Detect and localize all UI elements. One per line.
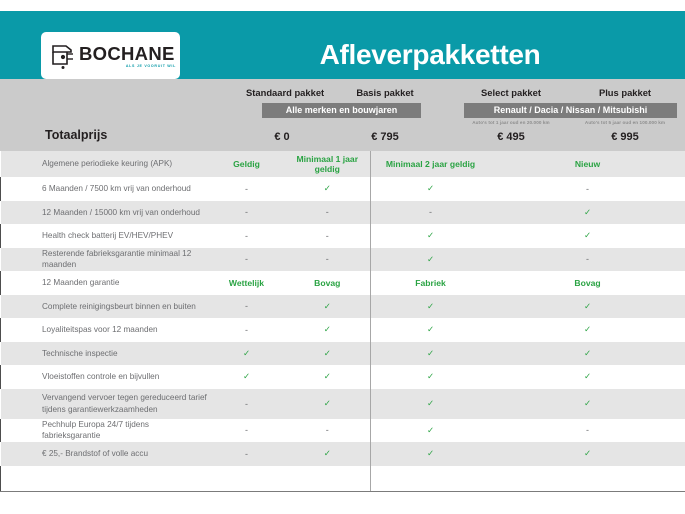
- cell-plus: ✓: [490, 342, 685, 366]
- price-select: € 495: [452, 131, 570, 143]
- cell-basis: ✓: [285, 442, 371, 466]
- cell-plus: -: [490, 248, 685, 272]
- table-row: 6 Maanden / 7500 km vrij van onderhoud-✓…: [1, 177, 685, 201]
- cell-basis: Bovag: [285, 271, 371, 295]
- table-row: Complete reinigingsbeurt binnen en buite…: [1, 295, 685, 319]
- group-banner-renault-dacia-nissan-mitsubishi: Renault / Dacia / Nissan / Mitsubishi: [464, 103, 677, 118]
- cell-standaard: -: [209, 201, 285, 225]
- cell-standaard: -: [209, 389, 285, 419]
- cell-standaard: -: [209, 224, 285, 248]
- cell-standaard: -: [209, 442, 285, 466]
- footer-spacer: [490, 466, 685, 492]
- table-row: Health check batterij EV/HEV/PHEV--✓✓: [1, 224, 685, 248]
- column-title-select: Select pakket: [452, 87, 570, 98]
- cell-standaard: -: [209, 419, 285, 443]
- row-label: 12 Maanden garantie: [1, 271, 209, 295]
- cell-plus: ✓: [490, 295, 685, 319]
- cell-plus: Nieuw: [490, 151, 685, 177]
- table-row: Vervangend vervoer tegen gereduceerd tar…: [1, 389, 685, 419]
- cell-standaard: Geldig: [209, 151, 285, 177]
- cell-basis: -: [285, 201, 371, 225]
- row-label: Complete reinigingsbeurt binnen en buite…: [1, 295, 209, 319]
- cell-basis: ✓: [285, 295, 371, 319]
- cell-standaard: -: [209, 318, 285, 342]
- cell-basis: Minimaal 1 jaar geldig: [285, 151, 371, 177]
- table-row: 12 Maanden / 15000 km vrij van onderhoud…: [1, 201, 685, 225]
- afleverpakketten-page: BOCHANE ALS JE VOORUIT WIL Afleverpakket…: [0, 0, 685, 514]
- price-basis: € 795: [342, 131, 428, 143]
- cell-select: ✓: [372, 442, 490, 466]
- bochane-logo: BOCHANE ALS JE VOORUIT WIL: [41, 32, 180, 79]
- table-row: Loyaliteitspas voor 12 maanden-✓✓✓: [1, 318, 685, 342]
- cell-select: ✓: [372, 389, 490, 419]
- package-comparison-table: Algemene periodieke keuring (APK)GeldigM…: [0, 151, 685, 492]
- table-row: Technische inspectie✓✓✓✓: [1, 342, 685, 366]
- cell-select: ✓: [372, 177, 490, 201]
- footer-spacer: [1, 466, 209, 492]
- cell-select: ✓: [372, 342, 490, 366]
- row-label: Loyaliteitspas voor 12 maanden: [1, 318, 209, 342]
- cell-plus: ✓: [490, 442, 685, 466]
- table-row: Resterende fabrieksgarantie minimaal 12 …: [1, 248, 685, 272]
- row-label: Algemene periodieke keuring (APK): [1, 151, 209, 177]
- price-plus: € 995: [570, 131, 680, 143]
- group-banner-alle-merken: Alle merken en bouwjaren: [262, 103, 421, 118]
- cell-select: ✓: [372, 365, 490, 389]
- cell-basis: ✓: [285, 318, 371, 342]
- column-title-basis: Basis pakket: [342, 87, 428, 98]
- cell-basis: -: [285, 224, 371, 248]
- column-title-standaard: Standaard pakket: [246, 87, 318, 98]
- row-label: Health check batterij EV/HEV/PHEV: [1, 224, 209, 248]
- price-standaard: € 0: [246, 131, 318, 143]
- cell-plus: ✓: [490, 201, 685, 225]
- row-label: Technische inspectie: [1, 342, 209, 366]
- table-row: Vloeistoffen controle en bijvullen✓✓✓✓: [1, 365, 685, 389]
- cell-basis: ✓: [285, 365, 371, 389]
- cell-basis: -: [285, 419, 371, 443]
- cell-basis: ✓: [285, 177, 371, 201]
- row-label: 12 Maanden / 15000 km vrij van onderhoud: [1, 201, 209, 225]
- cell-select: Minimaal 2 jaar geldig: [372, 151, 490, 177]
- cell-select: ✓: [372, 318, 490, 342]
- cell-standaard: -: [209, 177, 285, 201]
- cell-plus: Bovag: [490, 271, 685, 295]
- row-label: Pechhulp Europa 24/7 tijdens fabrieksgar…: [1, 419, 209, 443]
- column-note-plus: Auto's tot 5 jaar oud en 100.000 km: [570, 120, 680, 125]
- cell-standaard: -: [209, 295, 285, 319]
- table-row: Algemene periodieke keuring (APK)GeldigM…: [1, 151, 685, 177]
- table-row: € 25,- Brandstof of volle accu-✓✓✓: [1, 442, 685, 466]
- cell-plus: -: [490, 177, 685, 201]
- cell-plus: ✓: [490, 365, 685, 389]
- table-footer-row: [1, 466, 685, 492]
- cell-standaard: Wettelijk: [209, 271, 285, 295]
- column-title-plus: Plus pakket: [570, 87, 680, 98]
- cell-standaard: -: [209, 248, 285, 272]
- column-note-select: Auto's tot 1 jaar oud en 20.000 km: [452, 120, 570, 125]
- row-label: Resterende fabrieksgarantie minimaal 12 …: [1, 248, 209, 272]
- logo-wordmark: BOCHANE: [79, 43, 175, 65]
- cell-standaard: ✓: [209, 365, 285, 389]
- row-label: € 25,- Brandstof of volle accu: [1, 442, 209, 466]
- row-label: 6 Maanden / 7500 km vrij van onderhoud: [1, 177, 209, 201]
- cell-plus: ✓: [490, 389, 685, 419]
- table-row: Pechhulp Europa 24/7 tijdens fabrieksgar…: [1, 419, 685, 443]
- cell-select: ✓: [372, 248, 490, 272]
- row-label: Vloeistoffen controle en bijvullen: [1, 365, 209, 389]
- totalprice-row-label: Totaalprijs: [45, 128, 107, 142]
- logo-tagline: ALS JE VOORUIT WIL: [126, 64, 176, 68]
- cell-select: ✓: [372, 295, 490, 319]
- cell-select: ✓: [372, 419, 490, 443]
- cell-select: ✓: [372, 224, 490, 248]
- table-body: Algemene periodieke keuring (APK)GeldigM…: [1, 151, 685, 492]
- cell-standaard: ✓: [209, 342, 285, 366]
- cell-select: -: [372, 201, 490, 225]
- cell-plus: ✓: [490, 318, 685, 342]
- footer-spacer: [285, 466, 371, 492]
- cell-plus: ✓: [490, 224, 685, 248]
- table-row: 12 Maanden garantieWettelijkBovagFabriek…: [1, 271, 685, 295]
- bochane-monogram-icon: [50, 41, 75, 71]
- row-label: Vervangend vervoer tegen gereduceerd tar…: [1, 389, 209, 419]
- page-header-band: BOCHANE ALS JE VOORUIT WIL Afleverpakket…: [0, 11, 685, 79]
- page-title: Afleverpakketten: [210, 32, 650, 78]
- cell-basis: ✓: [285, 389, 371, 419]
- cell-basis: ✓: [285, 342, 371, 366]
- cell-select: Fabriek: [372, 271, 490, 295]
- cell-basis: -: [285, 248, 371, 272]
- cell-plus: -: [490, 419, 685, 443]
- footer-spacer: [372, 466, 490, 492]
- footer-spacer: [209, 466, 285, 492]
